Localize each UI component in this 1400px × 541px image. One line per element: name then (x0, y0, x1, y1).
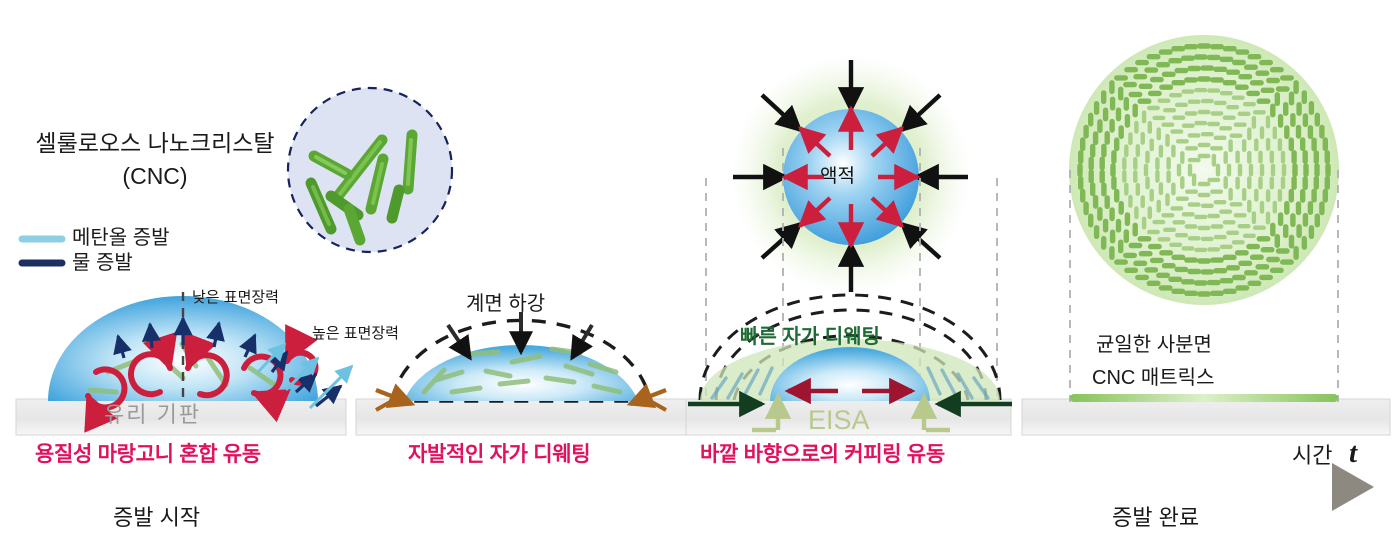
stage-3-caption: 바깥 바향으로의 커피링 유동 (700, 443, 945, 467)
dried-cnc-film (1070, 394, 1338, 402)
droplet-top-view-label: 액적 (820, 166, 855, 188)
legend-label-water: 물 증발 (72, 252, 133, 275)
cnc-inset-title-line2: (CNC) (20, 163, 290, 189)
stage-4-caption-line1: 균일한 사분면 (1096, 334, 1212, 357)
stage-2-graphics (376, 312, 666, 410)
cnc-inset-circle (288, 88, 452, 252)
low-surface-tension-label: 낮은 표면장력 (192, 289, 279, 306)
substrate-label-glass: 유리 기판 (104, 402, 201, 427)
eisa-label: EISA (808, 405, 870, 436)
cnc-inset-group (288, 88, 452, 252)
high-surface-tension-label: 높은 표면장력 (312, 325, 399, 342)
legend-label-methanol: 메탄올 증발 (72, 227, 170, 250)
stage-1-graphics (48, 292, 352, 408)
time-axis-symbol: t (1349, 437, 1357, 470)
timeline-end-label: 증발 완료 (1112, 505, 1199, 530)
timeline-start-label: 증발 시작 (113, 505, 200, 530)
time-axis-label: 시간 (1292, 443, 1332, 468)
cnc-matrix-disc (1069, 35, 1339, 305)
legend-swatches (22, 239, 62, 263)
stage-1-caption: 용질성 마랑고니 혼합 유동 (35, 443, 261, 467)
cnc-inset-title-line1: 셀룰로오스 나노크리스탈 (20, 130, 290, 156)
interface-descent-label: 계면 하강 (466, 293, 545, 316)
substrate-slab-4 (1022, 399, 1390, 435)
substrate-slab-2 (356, 399, 688, 435)
stage-4-caption-line2: CNC 매트릭스 (1092, 367, 1215, 390)
fast-self-dewetting-label: 빠른 자가 디웨팅 (740, 326, 880, 349)
stage-2-caption: 자발적인 자가 디웨팅 (408, 443, 590, 467)
diagram-root: 셀룰로오스 나노크리스탈 (CNC) 메탄올 증발 물 증발 낮은 표면장력 높… (0, 0, 1400, 541)
